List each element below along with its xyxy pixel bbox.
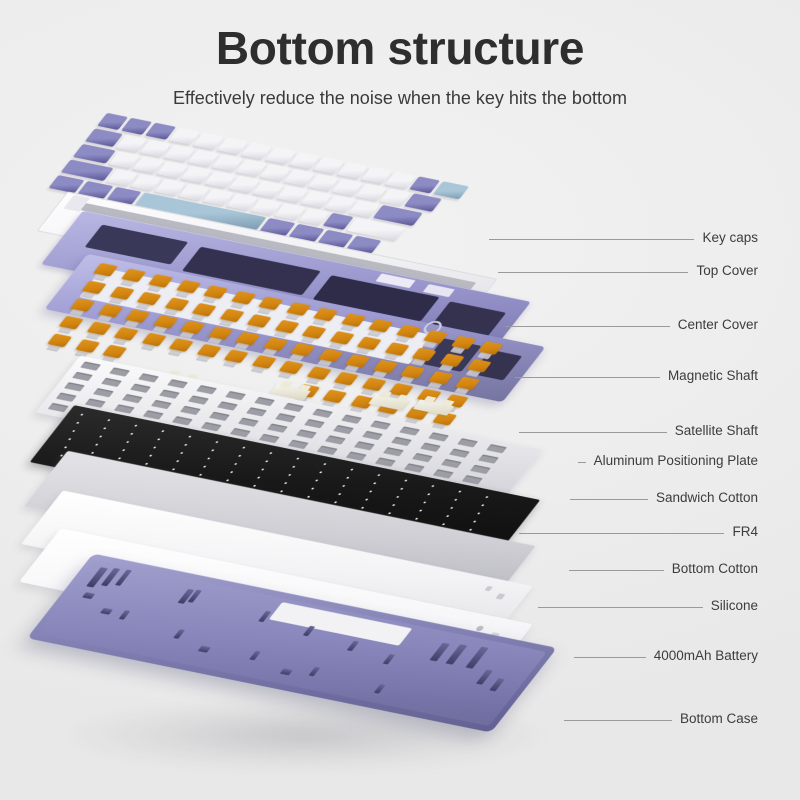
leader-line-sandwich-cotton	[570, 499, 648, 500]
leader-line-aluminum-positioning-plate	[578, 462, 586, 463]
layer-bottom-case	[0, 0, 800, 800]
case-internal-post	[347, 641, 359, 652]
callout-label-sandwich-cotton: Sandwich Cotton	[648, 491, 758, 505]
callout-label-magnetic-shaft: Magnetic Shaft	[660, 369, 758, 383]
case-internal-post	[383, 654, 395, 665]
case-internal-post	[119, 610, 131, 620]
leader-line-silicone	[538, 607, 703, 608]
case-internal-post	[280, 668, 293, 675]
callout-label-silicone: Silicone	[703, 599, 758, 613]
case-internal-post	[465, 647, 488, 669]
callout-label-center-cover: Center Cover	[670, 318, 758, 332]
case-internal-post	[82, 592, 95, 599]
case-internal-post	[198, 646, 211, 653]
callout-label-bottom-cotton: Bottom Cotton	[664, 562, 758, 576]
leader-line-battery	[574, 657, 646, 658]
callout-label-top-cover: Top Cover	[688, 264, 758, 278]
case-internal-post	[303, 626, 315, 637]
case-internal-post	[489, 678, 504, 691]
case-internal-post	[308, 667, 320, 677]
callout-label-battery: 4000mAh Battery	[646, 649, 758, 663]
case-internal-post	[249, 651, 261, 661]
keyboard-exploded-assembly	[0, 0, 800, 800]
callout-label-satellite-shaft: Satellite Shaft	[667, 424, 758, 438]
case-internal-post	[258, 611, 271, 622]
exploded-view-diagram: Bottom structure Effectively reduce the …	[0, 0, 800, 800]
callout-label-bottom-case: Bottom Case	[672, 712, 758, 726]
leader-line-satellite-shaft	[519, 432, 667, 433]
case-internal-post	[100, 608, 113, 615]
callout-label-key-caps: Key caps	[694, 231, 758, 245]
leader-line-fr4	[519, 533, 724, 534]
leader-line-magnetic-shaft	[515, 377, 660, 378]
case-internal-post	[173, 629, 185, 639]
callout-label-fr4: FR4	[724, 525, 758, 539]
leader-line-center-cover	[505, 326, 670, 327]
case-internal-post	[445, 644, 467, 664]
leader-line-bottom-cotton	[569, 570, 664, 571]
case-internal-post	[429, 643, 449, 662]
callout-label-aluminum-positioning-plate: Aluminum Positioning Plate	[586, 454, 758, 468]
ground-shadow	[70, 700, 540, 770]
case-internal-post	[476, 670, 493, 685]
leader-line-key-caps	[489, 239, 694, 240]
case-internal-post	[374, 684, 386, 694]
leader-line-top-cover	[498, 272, 688, 273]
leader-line-bottom-case	[564, 720, 672, 721]
